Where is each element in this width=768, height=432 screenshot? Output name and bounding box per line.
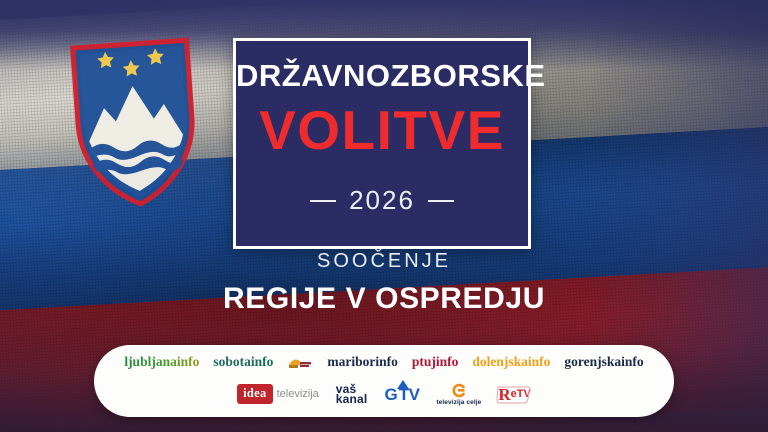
logo-gorenjskainfo[interactable]: gorenjskainfo xyxy=(564,354,643,370)
tv-celje-label: televizija celje xyxy=(436,399,481,406)
partner-row-one: ljubljanainfo sobotainfo mariborinfo ptu… xyxy=(94,350,674,374)
gtv-roof-icon xyxy=(397,380,409,390)
year-row: 2026 xyxy=(236,185,528,216)
partner-logo-bar: ljubljanainfo sobotainfo mariborinfo ptu… xyxy=(94,345,674,417)
logo-gtv[interactable]: G TV xyxy=(384,387,419,402)
year-text: 2026 xyxy=(349,185,415,216)
logo-regional-mark[interactable] xyxy=(287,354,313,370)
dash-right-icon xyxy=(428,200,454,202)
partner-row-two: idea televizija vaš kanal G TV televiz xyxy=(94,377,674,411)
promo-graphic: DRŽAVNOZBORSKE VOLITVE 2026 SOOČENJE REG… xyxy=(0,0,768,432)
kicker-text: DRŽAVNOZBORSKE xyxy=(236,60,528,91)
title-plaque: DRŽAVNOZBORSKE VOLITVE 2026 xyxy=(233,38,531,249)
retv-outline-icon xyxy=(495,385,531,405)
idea-word: televizija xyxy=(277,388,319,400)
logo-dolenjskainfo[interactable]: dolenjskainfo xyxy=(472,354,550,370)
tv-celje-c-icon xyxy=(450,383,467,398)
logo-sobotainfo[interactable]: sobotainfo xyxy=(213,354,273,370)
gtv-letter-g: G xyxy=(384,387,397,402)
vas-kanal-line2: kanal xyxy=(336,394,368,404)
logo-ptujinfo[interactable]: ptujinfo xyxy=(412,354,459,370)
logo-retv[interactable]: R eTV xyxy=(498,387,530,402)
logo-idea-televizija[interactable]: idea televizija xyxy=(237,384,319,404)
logo-televizija-celje[interactable]: televizija celje xyxy=(436,383,481,406)
subtitle-large: REGIJE V OSPREDJU xyxy=(0,282,768,316)
logo-ljubljanainfo[interactable]: ljubljanainfo xyxy=(124,354,199,370)
logo-mariborinfo[interactable]: mariborinfo xyxy=(327,354,398,370)
coat-of-arms-icon xyxy=(64,30,206,214)
logo-vas-kanal[interactable]: vaš kanal xyxy=(336,384,368,404)
subtitle-small: SOOČENJE xyxy=(0,250,768,273)
dash-left-icon xyxy=(310,200,336,202)
idea-mark: idea xyxy=(237,384,272,404)
headline-text: VOLITVE xyxy=(236,103,528,158)
